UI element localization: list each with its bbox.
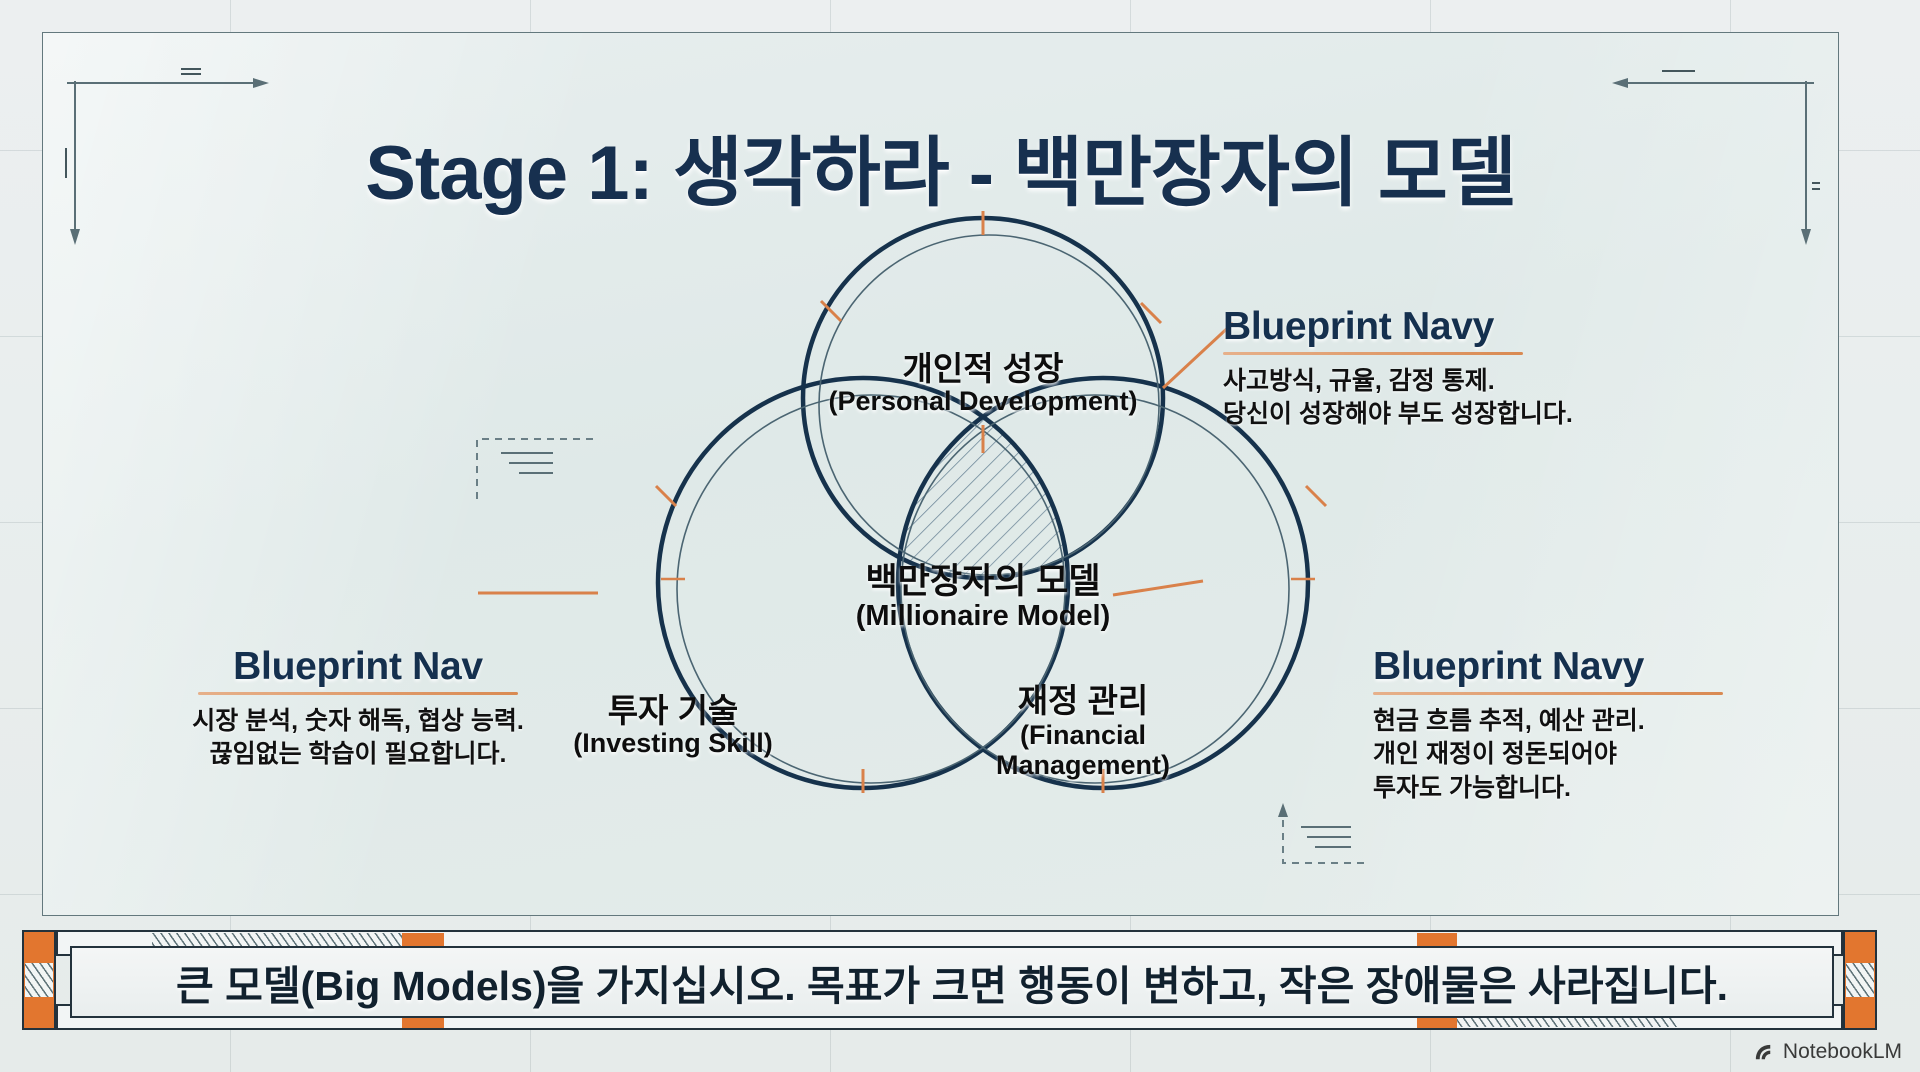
banner-text: 큰 모델(Big Models)을 가지십시오. 목표가 크면 행동이 변하고,…: [176, 952, 1728, 1012]
annotation-line-3: 투자도 가능합니다.: [1373, 772, 1833, 805]
annotation-line-1: 사고방식, 규율, 감정 통제.: [1223, 365, 1753, 398]
annotation-heading: Blueprint Navy: [1223, 305, 1753, 349]
annotation-heading: Blueprint Nav: [143, 645, 573, 689]
watermark-label: NotebookLM: [1783, 1040, 1902, 1064]
blueprint-sheet: Stage 1: 생각하라 - 백만장자의 모델: [42, 32, 1839, 916]
annotation-right: Blueprint Navy 현금 흐름 추적, 예산 관리. 개인 재정이 정…: [1373, 645, 1833, 805]
annotation-heading: Blueprint Navy: [1373, 645, 1833, 689]
notebooklm-icon: [1753, 1041, 1776, 1064]
banner-post-left-hatch: [25, 963, 53, 997]
bottom-banner: 큰 모델(Big Models)을 가지십시오. 목표가 크면 행동이 변하고,…: [22, 930, 1877, 1030]
annotation-underline: [1223, 352, 1523, 355]
leader-line-right: [1113, 581, 1203, 595]
annotation-underline: [198, 692, 518, 695]
banner-inner-panel: 큰 모델(Big Models)을 가지십시오. 목표가 크면 행동이 변하고,…: [70, 946, 1834, 1018]
annotation-line-2: 당신이 성장해야 부도 성장합니다.: [1223, 398, 1753, 431]
annotation-line-1: 시장 분석, 숫자 해독, 협상 능력.: [143, 705, 573, 738]
annotation-underline: [1373, 692, 1723, 695]
banner-post-right-hatch: [1846, 963, 1874, 997]
watermark: NotebookLM: [1753, 1040, 1902, 1064]
annotation-line-2: 끊임없는 학습이 필요합니다.: [143, 738, 573, 771]
annotation-top-right: Blueprint Navy 사고방식, 규율, 감정 통제. 당신이 성장해야…: [1223, 305, 1753, 432]
annotation-left: Blueprint Nav 시장 분석, 숫자 해독, 협상 능력. 끊임없는 …: [143, 645, 573, 772]
slide-canvas: Stage 1: 생각하라 - 백만장자의 모델: [0, 0, 1920, 1072]
annotation-line-2: 개인 재정이 정돈되어야: [1373, 738, 1833, 771]
annotation-line-1: 현금 흐름 추적, 예산 관리.: [1373, 705, 1833, 738]
